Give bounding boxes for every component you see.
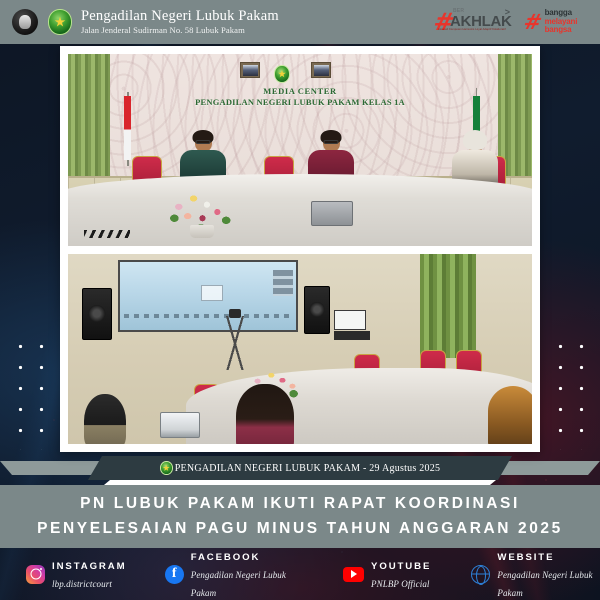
header-logo-group: # BER AKHLAK > Amanah Kompeten Harmonis … [434,7,586,37]
social-instagram[interactable]: INSTAGRAM lbp.districtcourt [26,556,127,592]
loudspeaker-left [82,288,112,340]
social-text: INSTAGRAM lbp.districtcourt [52,556,127,592]
social-handle: lbp.districtcourt [52,579,112,589]
caption-banner: PENGADILAN NEGERI LUBUK PAKAM - 29 Agust… [88,456,512,480]
wall-emblem-icon [274,65,290,83]
headline-line-1: PN LUBUK PAKAM IKUTI RAPAT KOORDINASI [80,492,520,516]
media-center-meeting-photo: MEDIA CENTER PENGADILAN NEGERI LUBUK PAK… [68,54,532,246]
monitor-screen [334,310,366,330]
indonesian-flag [124,96,131,160]
header-institution-title: Pengadilan Negeri Lubuk Pakam [81,9,279,25]
window-curtain [420,254,476,358]
youtube-icon [343,567,364,582]
bangga-text-block: bangga melayani bangsa [545,9,578,34]
person-head [467,133,484,152]
wall-sign-line-1: MEDIA CENTER [68,86,532,96]
akhlak-logo: # BER AKHLAK > Amanah Kompeten Harmonis … [434,7,512,37]
poster-footer: INSTAGRAM lbp.districtcourt FACEBOOK Pen… [0,548,600,600]
bangga-melayani-bangsa-logo: # bangga melayani bangsa [524,8,586,36]
social-website[interactable]: WEBSITE Pengadilan Negeri Lubuk Pakam [471,547,600,600]
dot-grid-right-decoration [546,332,594,450]
pengadilan-negeri-emblem-icon [160,461,173,475]
caption-banner-white-accent [104,480,496,485]
participant-figure [84,394,126,444]
laptop-on-table [311,201,353,226]
social-platform-name: YOUTUBE [371,561,431,572]
instagram-icon [26,565,45,584]
header-text-block: Pengadilan Negeri Lubuk Pakam Jalan Jend… [81,9,279,35]
monitor-stand [334,331,370,340]
header-address: Jalan Jenderal Sudirman No. 58 Lubuk Pak… [81,26,279,35]
flower-vase [190,225,214,238]
akhlak-tagline: Amanah Kompeten Harmonis Loyal Adaptif K… [438,28,506,32]
social-text: WEBSITE Pengadilan Negeri Lubuk Pakam [497,547,600,600]
participant-center [236,384,294,444]
screen-dialog [201,285,223,301]
globe-icon [471,565,490,584]
official-portrait-right [311,62,331,78]
participant-hijab-left [84,394,126,444]
screen-text-lines [124,314,292,318]
social-platform-name: INSTAGRAM [52,561,126,572]
headline-line-2: PENYELESAIAN PAGU MINUS TAHUN ANGGARAN 2… [37,517,563,541]
loudspeaker-right [304,286,330,334]
photo-frame: MEDIA CENTER PENGADILAN NEGERI LUBUK PAK… [60,46,540,452]
person-glasses [324,140,339,144]
operator-monitor [334,310,370,340]
social-text: FACEBOOK Pengadilan Negeri Lubuk Pakam [191,547,301,600]
flower-arrangement [164,186,238,238]
social-handle: Pengadilan Negeri Lubuk Pakam [497,570,592,598]
social-facebook[interactable]: FACEBOOK Pengadilan Negeri Lubuk Pakam [165,547,301,600]
microphones-on-table [84,230,130,238]
akhlak-caret-icon: > [505,7,510,17]
social-handle: Pengadilan Negeri Lubuk Pakam [191,570,286,598]
headline-block: PN LUBUK PAKAM IKUTI RAPAT KOORDINASI PE… [0,485,600,548]
poster-header: Pengadilan Negeri Lubuk Pakam Jalan Jend… [0,0,600,44]
participant-figure [488,386,532,444]
participant-right [488,386,532,444]
participant-figure [236,384,294,444]
social-handle: PNLBP Official [371,579,430,589]
social-youtube[interactable]: YOUTUBE PNLBP Official [343,556,435,592]
supreme-court-seal-icon [12,9,38,35]
social-media-poster: Pengadilan Negeri Lubuk Pakam Jalan Jend… [0,0,600,600]
facebook-icon [165,565,184,584]
meeting-table [68,174,532,246]
official-portrait-left [240,62,260,78]
social-platform-name: WEBSITE [497,552,554,563]
bangga-hash-glyph: # [521,12,544,33]
wall-sign-line-2: PENGADILAN NEGERI LUBUK PAKAM KELAS 1A [68,97,532,107]
pengadilan-negeri-emblem-icon [48,9,72,35]
bangga-line-3: bangsa [545,26,578,34]
person-glasses [196,140,211,144]
social-platform-name: FACEBOOK [191,552,261,563]
social-text: YOUTUBE PNLBP Official [371,556,435,592]
laptop-open [160,412,200,438]
projector-screen [118,260,298,332]
dot-grid-left-decoration [6,332,54,450]
video-participant-tiles [273,270,293,296]
person-headscarf [463,130,487,150]
camera-tripod [220,316,250,370]
wall-sign: MEDIA CENTER PENGADILAN NEGERI LUBUK PAK… [68,86,532,107]
video-conference-room-photo [68,254,532,444]
caption-banner-text: PENGADILAN NEGERI LUBUK PAKAM - 29 Agust… [175,463,441,474]
